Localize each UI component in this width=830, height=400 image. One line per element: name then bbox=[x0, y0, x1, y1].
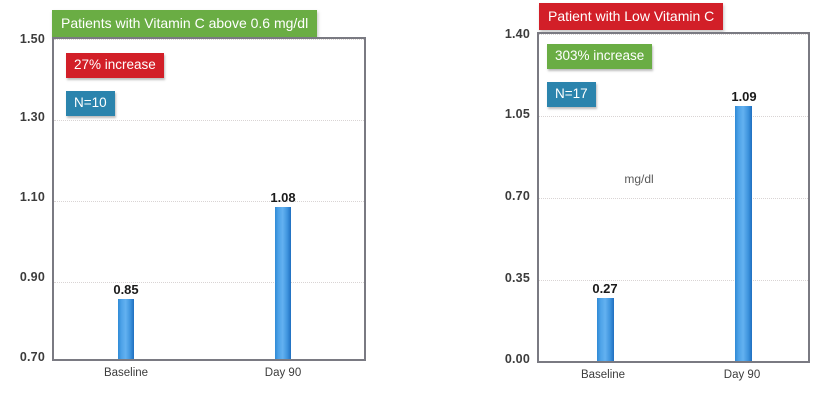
y-tick-label: 0.00 bbox=[505, 352, 530, 366]
x-axis-left: Baseline Day 90 bbox=[52, 361, 366, 381]
bar-day90-left bbox=[275, 207, 291, 359]
chart-panel-right: Patient with Low Vitamin C 303% increase… bbox=[415, 0, 830, 400]
increase-badge-left: 27% increase bbox=[66, 53, 164, 78]
y-axis-left: 0.70 0.90 1.10 1.30 1.50 bbox=[0, 37, 45, 361]
gridline bbox=[54, 120, 364, 121]
plot-area-right: 303% increase N=17 mg/dl 0.27 1.09 bbox=[537, 32, 810, 363]
bar-value-day90-right: 1.09 bbox=[731, 89, 756, 104]
bar-baseline-right bbox=[597, 298, 614, 361]
increase-badge-right: 303% increase bbox=[547, 44, 652, 69]
plot-area-left: 27% increase N=10 0.85 1.08 bbox=[52, 37, 366, 361]
y-tick-label: 0.35 bbox=[505, 271, 530, 285]
x-tick-label: Day 90 bbox=[724, 369, 760, 381]
bar-baseline-left bbox=[118, 299, 134, 359]
gridline bbox=[539, 280, 808, 281]
y-tick-label: 1.10 bbox=[20, 190, 45, 204]
gridline bbox=[54, 39, 364, 40]
sample-size-badge-left: N=10 bbox=[66, 91, 115, 116]
y-tick-label: 1.05 bbox=[505, 107, 530, 121]
gridline bbox=[54, 282, 364, 283]
y-tick-label: 0.70 bbox=[20, 350, 45, 364]
bar-value-baseline-left: 0.85 bbox=[113, 282, 138, 297]
y-tick-label: 0.70 bbox=[505, 189, 530, 203]
gridline bbox=[539, 34, 808, 35]
x-axis-right: Baseline Day 90 bbox=[537, 363, 810, 383]
chart-title-left: Patients with Vitamin C above 0.6 mg/dl bbox=[52, 10, 317, 37]
gridline bbox=[539, 116, 808, 117]
sample-size-badge-right: N=17 bbox=[547, 82, 596, 107]
vitamin-c-bar-chart-figure: Patients with Vitamin C above 0.6 mg/dl … bbox=[0, 0, 830, 400]
x-tick-label: Day 90 bbox=[265, 367, 301, 379]
bar-day90-right bbox=[735, 106, 752, 361]
chart-panel-left: Patients with Vitamin C above 0.6 mg/dl … bbox=[0, 0, 415, 400]
y-tick-label: 0.90 bbox=[20, 270, 45, 284]
x-tick-label: Baseline bbox=[104, 367, 148, 379]
gridline bbox=[54, 201, 364, 202]
bar-value-baseline-right: 0.27 bbox=[592, 281, 617, 296]
bar-value-day90-left: 1.08 bbox=[270, 190, 295, 205]
x-tick-label: Baseline bbox=[581, 369, 625, 381]
chart-title-right: Patient with Low Vitamin C bbox=[539, 3, 723, 30]
y-axis-right: 0.00 0.35 0.70 1.05 1.40 bbox=[475, 32, 530, 363]
gridline bbox=[539, 198, 808, 199]
units-annotation: mg/dl bbox=[624, 172, 653, 186]
y-tick-label: 1.30 bbox=[20, 110, 45, 124]
y-tick-label: 1.40 bbox=[505, 27, 530, 41]
y-tick-label: 1.50 bbox=[20, 32, 45, 46]
